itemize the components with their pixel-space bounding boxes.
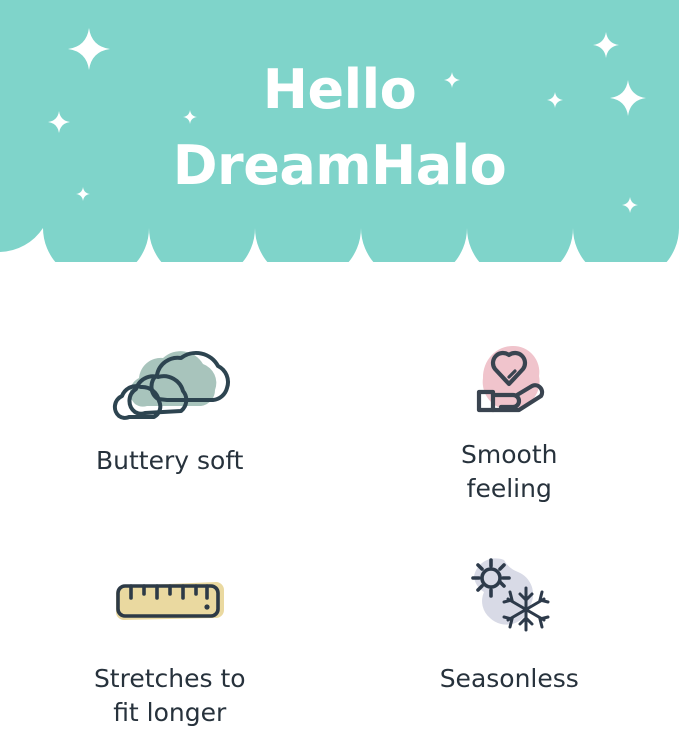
sparkle-small-left: [48, 111, 70, 133]
sparkle-large-top-left: [68, 28, 110, 70]
feature-item-smooth-feeling: Smooth feeling: [340, 262, 679, 506]
feature-item-stretches: Stretches to fit longer: [0, 506, 340, 730]
sun-snowflake-icon: [454, 544, 564, 640]
feature-label: Seasonless: [440, 662, 579, 696]
feature-item-buttery-soft: Buttery soft: [0, 262, 340, 506]
feature-label: Stretches to fit longer: [94, 662, 246, 730]
feature-grid: Buttery soft Smooth feeling: [0, 262, 679, 676]
sparkle-large-right: [610, 80, 646, 116]
feature-label: Buttery soft: [96, 444, 244, 478]
sparkle-tiny-center: [444, 72, 460, 88]
hand-heart-icon: [457, 334, 561, 430]
sparkle-medium-top-right: [593, 32, 619, 58]
sparkle-tiny-right: [547, 92, 563, 108]
sparkle-tiny-mid: [183, 110, 197, 124]
sparkle-tiny-bottom-right: [622, 197, 638, 213]
sparkle-tiny-left-low: [76, 187, 90, 201]
cloud-icon: [95, 338, 245, 434]
feature-label: Smooth feeling: [461, 438, 557, 506]
ruler-icon: [110, 552, 230, 648]
feature-item-seasonless: Seasonless: [340, 506, 679, 730]
hero-banner: Hello DreamHalo: [0, 0, 679, 262]
